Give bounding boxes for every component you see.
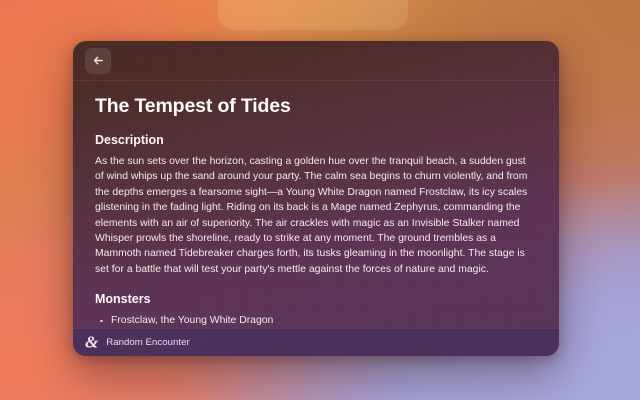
arrow-left-icon — [92, 54, 105, 67]
monsters-heading: Monsters — [95, 292, 537, 306]
encounter-dialog: The Tempest of Tides Description As the … — [73, 41, 559, 356]
description-text: As the sun sets over the horizon, castin… — [95, 154, 537, 277]
description-heading: Description — [95, 133, 537, 147]
back-button[interactable] — [85, 48, 111, 74]
list-item: Frostclaw, the Young White Dragon — [95, 313, 537, 328]
ampersand-dnd-icon: & — [85, 334, 97, 351]
dialog-footer: & Random Encounter — [73, 328, 559, 356]
page-title: The Tempest of Tides — [95, 95, 537, 118]
dialog-content[interactable]: The Tempest of Tides Description As the … — [73, 81, 559, 356]
footer-label: Random Encounter — [106, 337, 189, 348]
dialog-header — [73, 41, 559, 81]
